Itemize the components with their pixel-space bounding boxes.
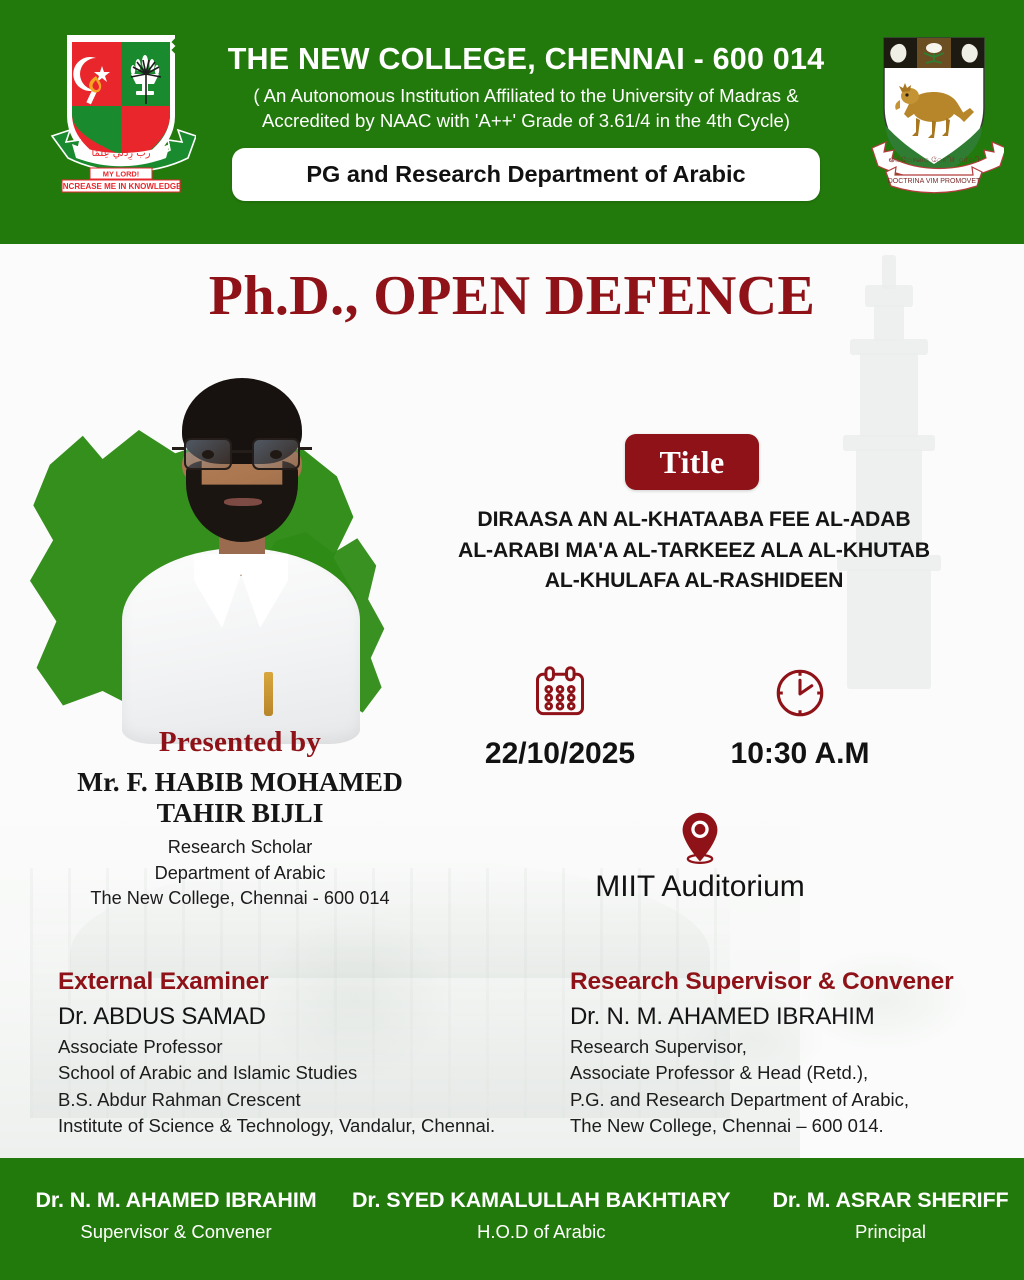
event-datetime-row: 22/10/2025 10:30 A.M	[450, 662, 950, 794]
research-supervisor-line-3: P.G. and Research Department of Arabic,	[570, 1087, 1020, 1113]
svg-text:DOCTRINA VIM PROMOVET: DOCTRINA VIM PROMOVET	[888, 178, 981, 185]
svg-text:MY LORD!: MY LORD!	[103, 170, 139, 179]
svg-text:ربِّ زِدْني عِلْمًا: ربِّ زِدْني عِلْمًا	[91, 145, 150, 161]
footer-signatory-name: Dr. N. M. AHAMED IBRAHIM	[0, 1188, 352, 1213]
thesis-title-line-1: DIRAASA AN AL-KHATAABA FEE AL-ADAB	[434, 505, 954, 536]
location-pin-icon	[450, 810, 950, 866]
presenter-name: Mr. F. HABIB MOHAMED TAHIR BIJLI	[10, 766, 470, 829]
event-venue: MIIT Auditorium	[450, 870, 950, 904]
footer-signatory-name: Dr. SYED KAMALULLAH BAKHTIARY	[352, 1188, 731, 1213]
research-supervisor-line-2: Associate Professor & Head (Retd.),	[570, 1060, 1020, 1086]
presenter-portrait-illustration	[116, 352, 366, 744]
title-badge: Title	[625, 434, 759, 490]
footer-signatory-role: Principal	[731, 1221, 1024, 1243]
event-date: 22/10/2025	[450, 737, 670, 771]
event-time: 10:30 A.M	[690, 737, 910, 771]
footer-signatory-role: H.O.D of Arabic	[352, 1221, 731, 1243]
presenter-photo	[22, 352, 442, 752]
external-examiner-block: External Examiner Dr. ABDUS SAMAD Associ…	[58, 968, 558, 1139]
accreditation-line-2: Accredited by NAAC with 'A++' Grade of 3…	[253, 109, 798, 134]
thesis-title-line-3: AL-KHULAFA AL-RASHIDEEN	[434, 566, 954, 597]
research-supervisor-block: Research Supervisor & Convener Dr. N. M.…	[570, 968, 1020, 1139]
presented-by-label: Presented by	[10, 726, 470, 759]
pocket-pen-icon	[264, 672, 273, 716]
department-label: PG and Research Department of Arabic	[306, 161, 745, 187]
footer-signatory: Dr. SYED KAMALULLAH BAKHTIARY H.O.D of A…	[352, 1188, 731, 1280]
accreditation-text: ( An Autonomous Institution Affiliated t…	[253, 84, 798, 133]
thesis-title: DIRAASA AN AL-KHATAABA FEE AL-ADAB AL-AR…	[434, 505, 954, 597]
the-new-college-crest-icon: ربِّ زِدْني عِلْمًا MY LORD! INCREASE ME…	[46, 28, 196, 198]
event-venue-block: MIIT Auditorium	[450, 810, 950, 904]
external-examiner-heading: External Examiner	[58, 968, 558, 996]
external-examiner-line-3: B.S. Abdur Rahman Crescent	[58, 1087, 558, 1113]
footer-signatory: Dr. M. ASRAR SHERIFF Principal	[731, 1188, 1024, 1280]
clock-icon	[690, 662, 910, 724]
presenter-department: Department of Arabic	[10, 861, 470, 887]
presenter-name-line-2: TAHIR BIJLI	[10, 797, 470, 828]
calendar-icon	[450, 662, 670, 724]
external-examiner-line-1: Associate Professor	[58, 1034, 558, 1060]
college-name: THE NEW COLLEGE, CHENNAI - 600 014	[228, 43, 825, 75]
external-examiner-name: Dr. ABDUS SAMAD	[58, 1003, 558, 1031]
footer-signatory-name: Dr. M. ASRAR SHERIFF	[731, 1188, 1024, 1213]
thesis-title-line-2: AL-ARABI MA'A AL-TARKEEZ ALA AL-KHUTAB	[434, 536, 954, 567]
footer-signatory: Dr. N. M. AHAMED IBRAHIM Supervisor & Co…	[0, 1188, 352, 1280]
presenter-name-line-1: Mr. F. HABIB MOHAMED	[10, 766, 470, 797]
presenter-college: The New College, Chennai - 600 014	[10, 886, 470, 912]
header-text-block: THE NEW COLLEGE, CHENNAI - 600 014 ( An …	[196, 0, 856, 244]
research-supervisor-heading: Research Supervisor & Convener	[570, 968, 1020, 996]
presenter-affiliation: Research Scholar Department of Arabic Th…	[10, 835, 470, 913]
event-date-block: 22/10/2025	[450, 662, 670, 771]
accreditation-line-1: ( An Autonomous Institution Affiliated t…	[253, 84, 798, 109]
external-examiner-line-4: Institute of Science & Technology, Vanda…	[58, 1113, 558, 1139]
footer-signatory-role: Supervisor & Convener	[0, 1221, 352, 1243]
research-supervisor-line-1: Research Supervisor,	[570, 1034, 1020, 1060]
svg-text:అ்ோ஽ை ாிா்ே ா்௄ி: అ்ோ஽ை ாிா்ே ா்௄ி	[889, 155, 980, 164]
presenter-role: Research Scholar	[10, 835, 470, 861]
page-title: Ph.D., OPEN DEFENCE	[0, 264, 1024, 328]
external-examiner-line-2: School of Arabic and Islamic Studies	[58, 1060, 558, 1086]
research-supervisor-name: Dr. N. M. AHAMED IBRAHIM	[570, 1003, 1020, 1031]
title-badge-label: Title	[660, 444, 725, 481]
eyeglasses-icon	[178, 438, 306, 472]
svg-text:INCREASE ME IN KNOWLEDGE: INCREASE ME IN KNOWLEDGE	[61, 182, 183, 191]
department-badge: PG and Research Department of Arabic	[232, 148, 820, 201]
presented-by-block: Presented by Mr. F. HABIB MOHAMED TAHIR …	[10, 726, 470, 912]
poster-header: ربِّ زِدْني عِلْمًا MY LORD! INCREASE ME…	[0, 0, 1024, 244]
research-supervisor-line-4: The New College, Chennai – 600 014.	[570, 1113, 1020, 1139]
university-of-madras-crest-icon: అ்ோ஽ை ாிா்ே ா்௄ி DOCTRINA VIM PROMOVET	[864, 30, 1004, 210]
event-time-block: 10:30 A.M	[690, 662, 910, 771]
poster-root: ربِّ زِدْني عِلْمًا MY LORD! INCREASE ME…	[0, 0, 1024, 1280]
poster-footer: Dr. N. M. AHAMED IBRAHIM Supervisor & Co…	[0, 1158, 1024, 1280]
